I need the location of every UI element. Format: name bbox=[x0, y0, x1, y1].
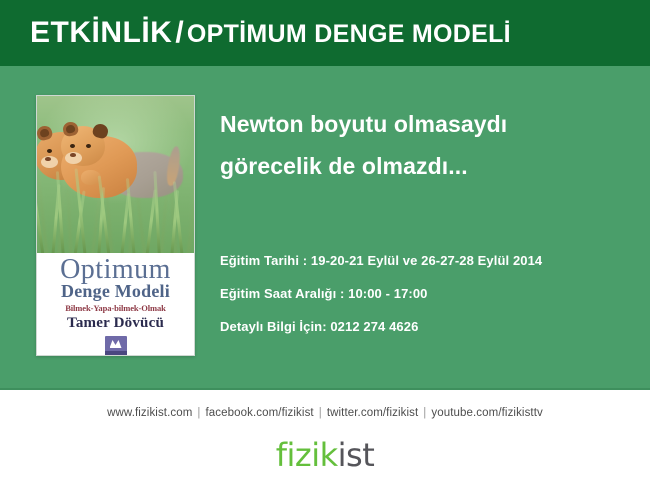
footer-link-twitter[interactable]: twitter.com/fizikist bbox=[327, 407, 418, 419]
footer-link-facebook[interactable]: facebook.com/fizikist bbox=[206, 407, 314, 419]
book-title-block: Optimum Denge Modeli Bilmek-Yapa-bilmek-… bbox=[37, 253, 194, 355]
header-title-light: OPTİMUM DENGE MODELİ bbox=[187, 20, 511, 48]
fizikist-logo-part-green: fizik bbox=[276, 436, 338, 474]
footer-separator: | bbox=[192, 407, 205, 419]
header-title-strong: ETKİNLİK bbox=[30, 16, 172, 49]
fizikist-logo[interactable]: fizikist bbox=[0, 436, 650, 474]
book-author: Tamer Dövücü bbox=[37, 315, 194, 332]
headline: Newton boyutu olmasaydı görecelik de olm… bbox=[220, 103, 630, 187]
headline-line-1: Newton boyutu olmasaydı bbox=[220, 103, 630, 145]
footer-separator: | bbox=[418, 407, 431, 419]
book-tagline: Bilmek-Yapa-bilmek-Olmak bbox=[37, 303, 194, 314]
headline-line-2: görecelik de olmazdı... bbox=[220, 145, 630, 187]
poster-header: ETKİNLİK/OPTİMUM DENGE MODELİ bbox=[0, 0, 650, 66]
footer-separator: | bbox=[314, 407, 327, 419]
detail-date: Eğitim Tarihi : 19-20-21 Eylül ve 26-27-… bbox=[220, 253, 640, 269]
book-cover: Optimum Denge Modeli Bilmek-Yapa-bilmek-… bbox=[36, 95, 195, 356]
footer-link-youtube[interactable]: youtube.com/fizikisttv bbox=[431, 407, 543, 419]
detail-time: Eğitim Saat Aralığı : 10:00 - 17:00 bbox=[220, 286, 640, 302]
lion-cubs-illustration bbox=[39, 118, 189, 226]
footer-link-website[interactable]: www.fizikist.com bbox=[107, 407, 192, 419]
book-title-main: Optimum bbox=[37, 256, 194, 284]
fizikist-logo-part-gray: ist bbox=[338, 436, 375, 474]
poster-footer: www.fizikist.com|facebook.com/fizikist|t… bbox=[0, 390, 650, 487]
header-title-separator: / bbox=[172, 16, 187, 49]
detail-contact: Detaylı Bilgi İçin: 0212 274 4626 bbox=[220, 319, 640, 335]
book-cover-photo bbox=[37, 96, 194, 253]
event-details: Eğitim Tarihi : 19-20-21 Eylül ve 26-27-… bbox=[220, 253, 640, 352]
footer-links: www.fizikist.com|facebook.com/fizikist|t… bbox=[0, 390, 650, 419]
header-title: ETKİNLİK/OPTİMUM DENGE MODELİ bbox=[0, 16, 511, 50]
event-poster: ETKİNLİK/OPTİMUM DENGE MODELİ bbox=[0, 0, 650, 487]
publisher-logo-icon bbox=[105, 336, 127, 356]
